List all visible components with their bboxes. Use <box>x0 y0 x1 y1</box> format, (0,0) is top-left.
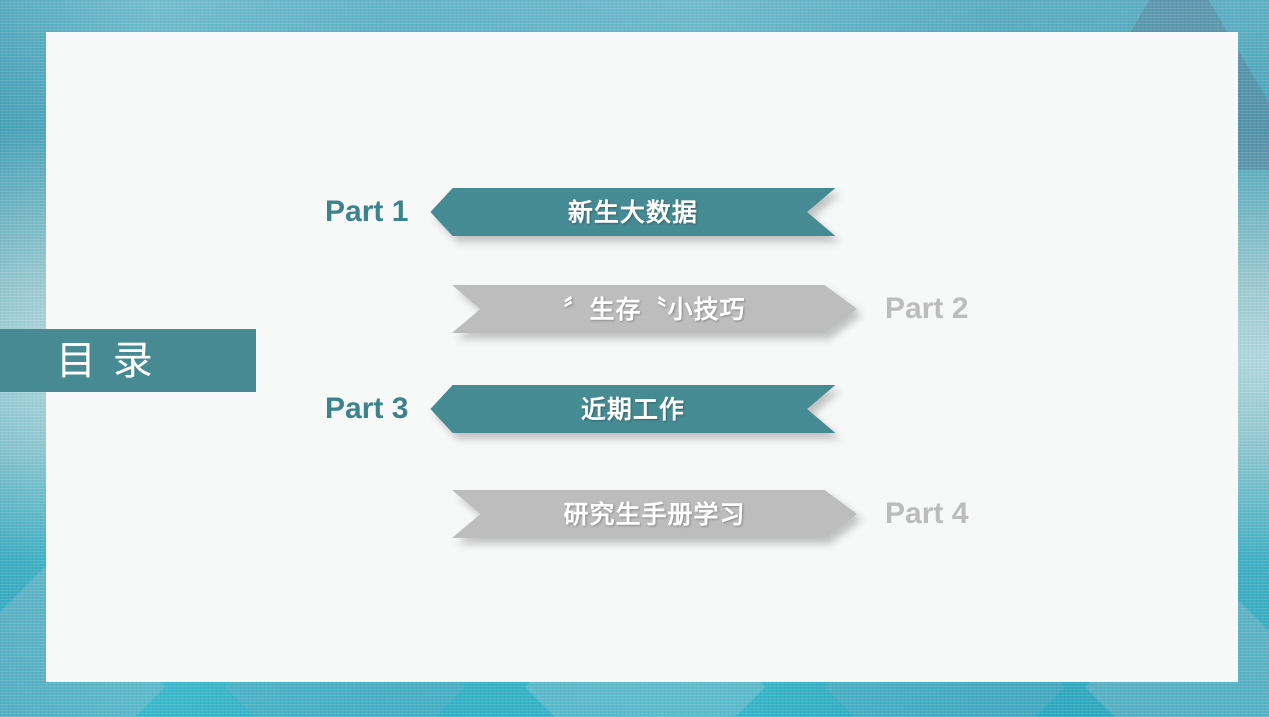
toc-entry-2[interactable]: 〞生存〝小技巧 Part 2 <box>452 285 968 333</box>
toc-banner-2[interactable]: 〞生存〝小技巧 <box>452 285 857 333</box>
toc-entry-1[interactable]: Part 1 新生大数据 <box>325 188 835 236</box>
part-label-1: Part 1 <box>325 197 408 227</box>
toc-entry-4[interactable]: 研究生手册学习 Part 4 <box>452 490 968 538</box>
toc-entry-title-1: 新生大数据 <box>568 200 698 225</box>
page-title: 目 录 <box>0 341 155 381</box>
part-label-2: Part 2 <box>885 294 968 324</box>
presentation-slide: 目 录 Part 1 新生大数据 〞生存〝小技巧 Part 2 Part 3 近… <box>0 0 1269 717</box>
toc-entry-title-4: 研究生手册学习 <box>563 502 745 527</box>
toc-banner-4[interactable]: 研究生手册学习 <box>452 490 857 538</box>
toc-banner-3[interactable]: 近期工作 <box>430 385 835 433</box>
toc-entry-title-2: 〞生存〝小技巧 <box>563 297 745 322</box>
toc-entry-title-3: 近期工作 <box>581 397 685 422</box>
table-of-contents-heading-block: 目 录 <box>0 329 256 392</box>
part-label-3: Part 3 <box>325 394 408 424</box>
toc-banner-1[interactable]: 新生大数据 <box>430 188 835 236</box>
part-label-4: Part 4 <box>885 499 968 529</box>
toc-entry-3[interactable]: Part 3 近期工作 <box>325 385 835 433</box>
